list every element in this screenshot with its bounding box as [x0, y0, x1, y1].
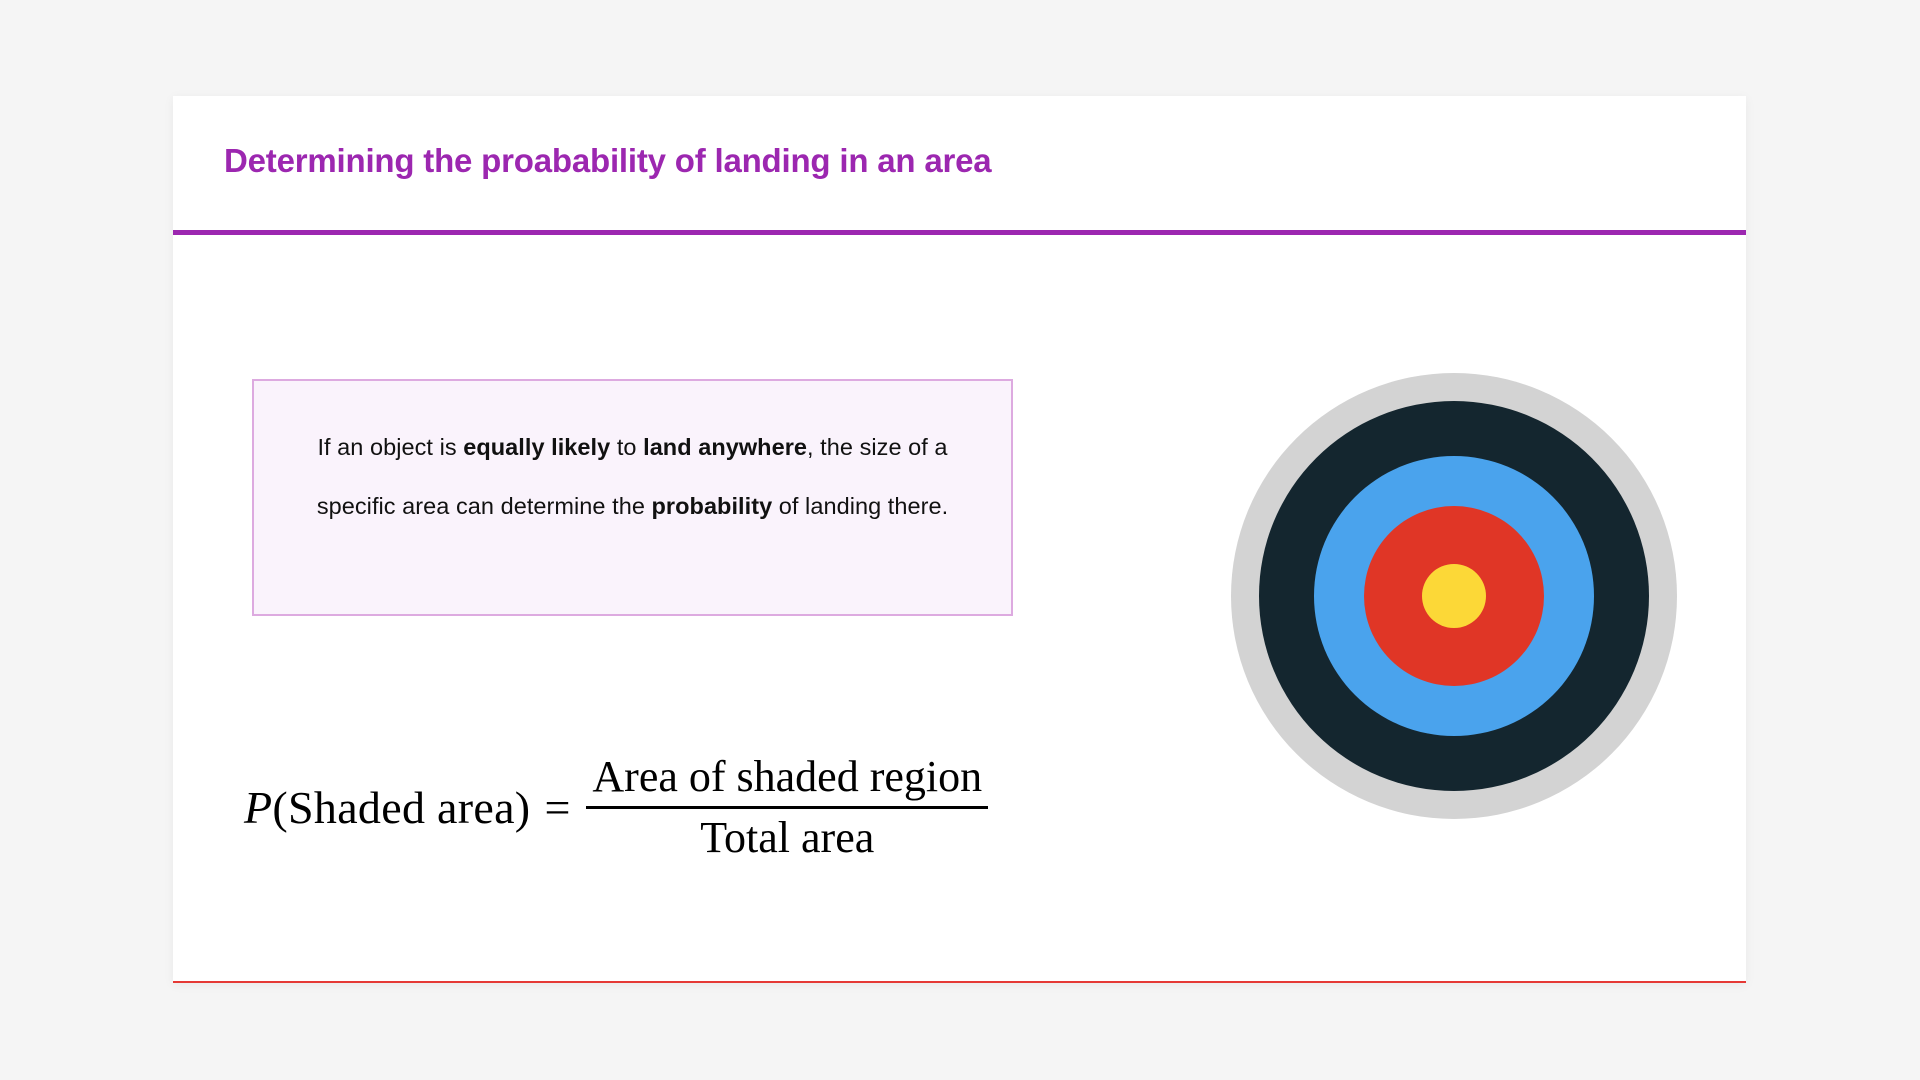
- archery-target-icon: [1229, 371, 1679, 821]
- formula-variable-p: P: [244, 782, 272, 833]
- callout-text-run-5: probability: [652, 493, 773, 519]
- slide-bottom-rule: [173, 981, 1746, 983]
- header-divider-rule: [173, 230, 1746, 235]
- formula-equals-sign: =: [544, 781, 570, 834]
- formula-left-side: P(Shaded area): [244, 781, 530, 834]
- page-title: Determining the proabability of landing …: [224, 142, 991, 180]
- slide-card: Determining the proabability of landing …: [173, 96, 1746, 983]
- callout-text-run-2: to: [610, 434, 643, 460]
- callout-text-run-0: If an object is: [317, 434, 463, 460]
- probability-formula: P(Shaded area) = Area of shaded region T…: [244, 742, 1174, 872]
- callout-text-run-3: land anywhere: [643, 434, 807, 460]
- callout-text-run-1: equally likely: [463, 434, 610, 460]
- callout-text-run-6: of landing there.: [772, 493, 948, 519]
- fraction-numerator: Area of shaded region: [586, 752, 988, 805]
- formula-fraction: Area of shaded region Total area: [586, 752, 988, 862]
- fraction-denominator: Total area: [694, 809, 880, 862]
- callout-text: If an object is equally likely to land a…: [304, 418, 961, 536]
- formula-left-rest: (Shaded area): [272, 782, 530, 833]
- callout-box: If an object is equally likely to land a…: [252, 379, 1013, 616]
- slide-header: Determining the proabability of landing …: [173, 96, 1746, 232]
- yellow-bullseye: [1422, 564, 1486, 628]
